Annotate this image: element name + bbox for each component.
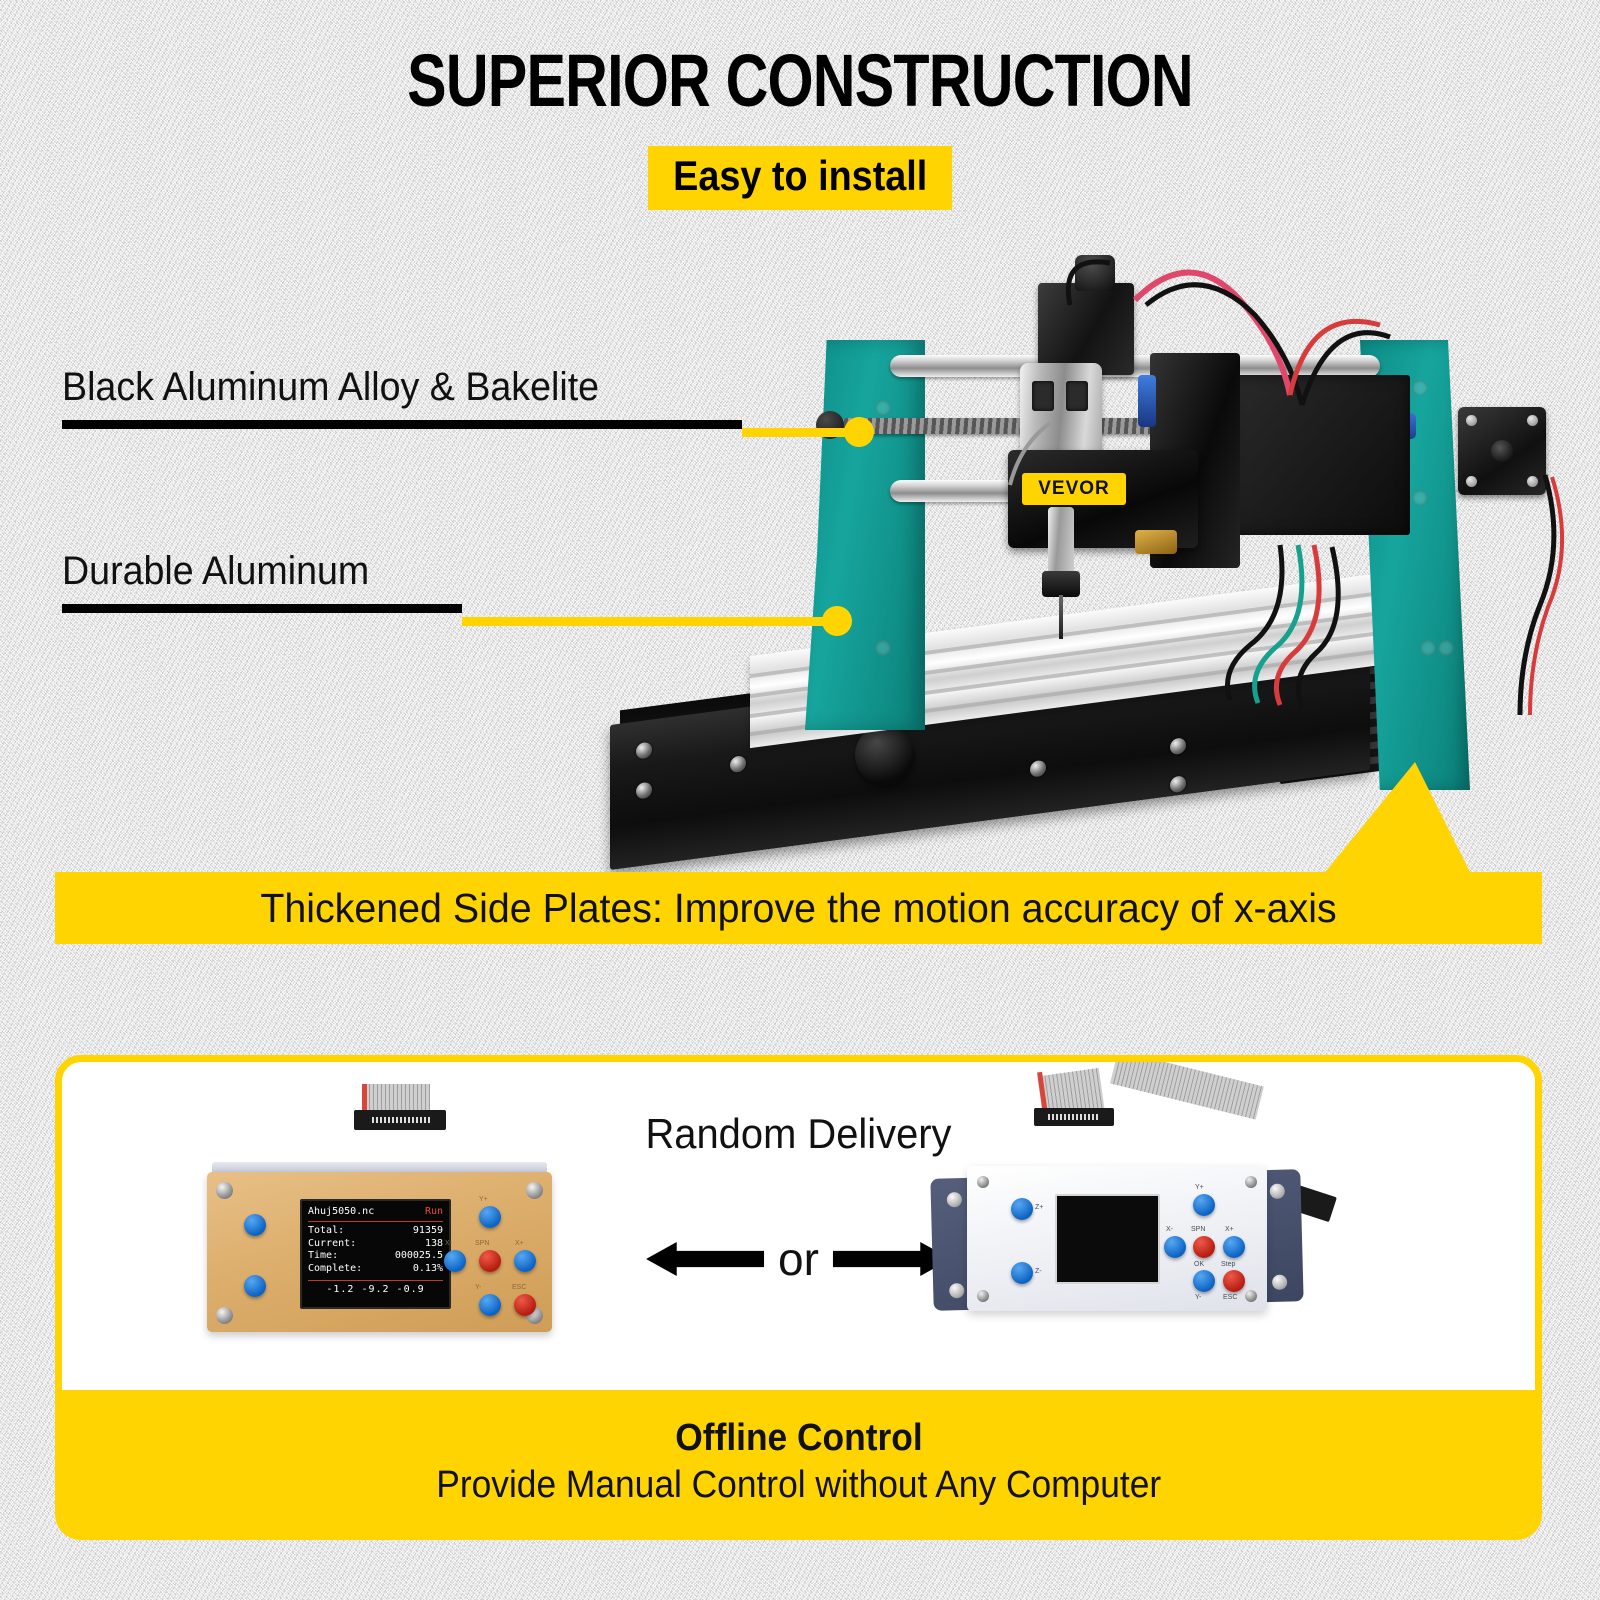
- white-label-z-plus: Z+: [1035, 1204, 1043, 1211]
- feature-banner: Thickened Side Plates: Improve the motio…: [55, 872, 1542, 944]
- lcd-status: Run: [425, 1206, 443, 1219]
- white-label-step: Step: [1221, 1261, 1235, 1268]
- white-label-z-minus: Z-: [1035, 1268, 1042, 1275]
- white-label-y-plus: Y+: [1195, 1184, 1204, 1191]
- corner-screw: [216, 1307, 233, 1324]
- feature-banner-text: Thickened Side Plates: Improve the motio…: [85, 872, 1513, 944]
- orange-button-esc[interactable]: [514, 1294, 536, 1316]
- orange-label-x-minus: X-: [445, 1240, 452, 1247]
- lcd-complete-key: Complete:: [308, 1263, 362, 1276]
- orange-button-left-lower[interactable]: [244, 1275, 266, 1297]
- orange-button-left-upper[interactable]: [244, 1214, 266, 1236]
- orange-button-y-minus[interactable]: [479, 1294, 501, 1316]
- callout-1-underline: [62, 420, 742, 429]
- wire-harness: [590, 245, 1590, 865]
- cnc-machine-photo: VEVOR: [590, 245, 1590, 865]
- white-button-spn[interactable]: [1193, 1236, 1215, 1258]
- controller-lcd-screen: Ahuj5050.nc Run Total:91359 Current:138 …: [300, 1199, 451, 1309]
- offline-controller-white: Z+ Z- Y+ X- SPN X+ OK Step Y- ESC: [967, 1166, 1267, 1311]
- callout-1-label: Black Aluminum Alloy & Bakelite: [62, 366, 701, 408]
- callout-2-leader-line: [462, 617, 830, 626]
- orange-label-x-plus: X+: [515, 1240, 524, 1247]
- connector-pins: [1048, 1114, 1100, 1120]
- orange-button-spn[interactable]: [479, 1250, 501, 1272]
- orange-label-spn: SPN: [475, 1240, 489, 1247]
- random-delivery-label: Random Delivery: [99, 1110, 1498, 1158]
- white-button-ok[interactable]: [1193, 1270, 1215, 1292]
- corner-screw: [1245, 1290, 1257, 1302]
- white-label-esc: ESC: [1223, 1294, 1237, 1301]
- ribbon-cable-red-stripe: [362, 1084, 367, 1112]
- white-label-y-minus: Y-: [1195, 1294, 1201, 1301]
- white-button-step[interactable]: [1223, 1270, 1245, 1292]
- footer-title: Offline Control: [675, 1417, 922, 1460]
- orange-button-x-minus[interactable]: [444, 1250, 466, 1272]
- orange-button-x-plus[interactable]: [514, 1250, 536, 1272]
- white-label-spn: SPN: [1191, 1226, 1205, 1233]
- orange-label-esc: ESC: [512, 1284, 526, 1291]
- lcd-complete-value: 0.13%: [413, 1263, 443, 1276]
- white-button-z-minus[interactable]: [1011, 1262, 1033, 1284]
- page-title: SUPERIOR CONSTRUCTION: [160, 38, 1440, 123]
- callout-2-label: Durable Aluminum: [62, 550, 438, 592]
- subtitle-wrapper: Easy to install: [0, 146, 1600, 210]
- orange-label-y-plus: Y+: [479, 1196, 488, 1203]
- callout-2-leader-dot: [822, 606, 852, 636]
- white-label-ok: OK: [1194, 1261, 1204, 1268]
- white-button-z-plus[interactable]: [1011, 1198, 1033, 1220]
- white-button-x-minus[interactable]: [1164, 1236, 1186, 1258]
- footer-subtitle: Provide Manual Control without Any Compu…: [436, 1464, 1161, 1507]
- lcd-total-key: Total:: [308, 1225, 344, 1238]
- corner-screw: [1245, 1176, 1257, 1188]
- orange-label-y-minus: Y-: [475, 1284, 481, 1291]
- lcd-time-value: 000025.5: [395, 1250, 443, 1263]
- connector-pins: [372, 1117, 430, 1123]
- callout-durable-aluminum: Durable Aluminum: [62, 550, 462, 613]
- corner-screw: [526, 1182, 543, 1199]
- corner-screw: [977, 1290, 989, 1302]
- white-controller-lcd-screen: [1055, 1194, 1160, 1284]
- callout-1-leader-line: [742, 428, 852, 437]
- lcd-coordinates: -1.2 -9.2 -0.9: [308, 1280, 443, 1297]
- white-label-x-plus: X+: [1225, 1226, 1234, 1233]
- lcd-current-key: Current:: [308, 1238, 356, 1251]
- lcd-filename: Ahuj5050.nc: [308, 1206, 374, 1219]
- callout-black-aluminum-alloy: Black Aluminum Alloy & Bakelite: [62, 366, 742, 429]
- callout-1-leader-dot: [844, 417, 874, 447]
- white-label-x-minus: X-: [1166, 1226, 1173, 1233]
- lcd-time-key: Time:: [308, 1250, 338, 1263]
- arrow-left-icon: [646, 1242, 764, 1276]
- offline-control-card: Random Delivery or Ahuj5050.nc Run Total…: [55, 1055, 1542, 1540]
- lcd-total-value: 91359: [413, 1225, 443, 1238]
- offline-controller-orange: Ahuj5050.nc Run Total:91359 Current:138 …: [207, 1172, 552, 1332]
- corner-screw: [977, 1176, 989, 1188]
- subtitle-badge: Easy to install: [648, 146, 953, 210]
- white-button-x-plus[interactable]: [1223, 1236, 1245, 1258]
- or-label: or: [778, 1232, 819, 1286]
- ribbon-cable-orange: [362, 1084, 430, 1112]
- orange-button-y-plus[interactable]: [479, 1206, 501, 1228]
- lcd-current-value: 138: [425, 1238, 443, 1251]
- callout-2-underline: [62, 604, 462, 613]
- offline-control-footer: Offline Control Provide Manual Control w…: [62, 1390, 1535, 1533]
- or-selector-row: or: [646, 1232, 951, 1286]
- white-button-y-plus[interactable]: [1193, 1194, 1215, 1216]
- corner-screw: [216, 1182, 233, 1199]
